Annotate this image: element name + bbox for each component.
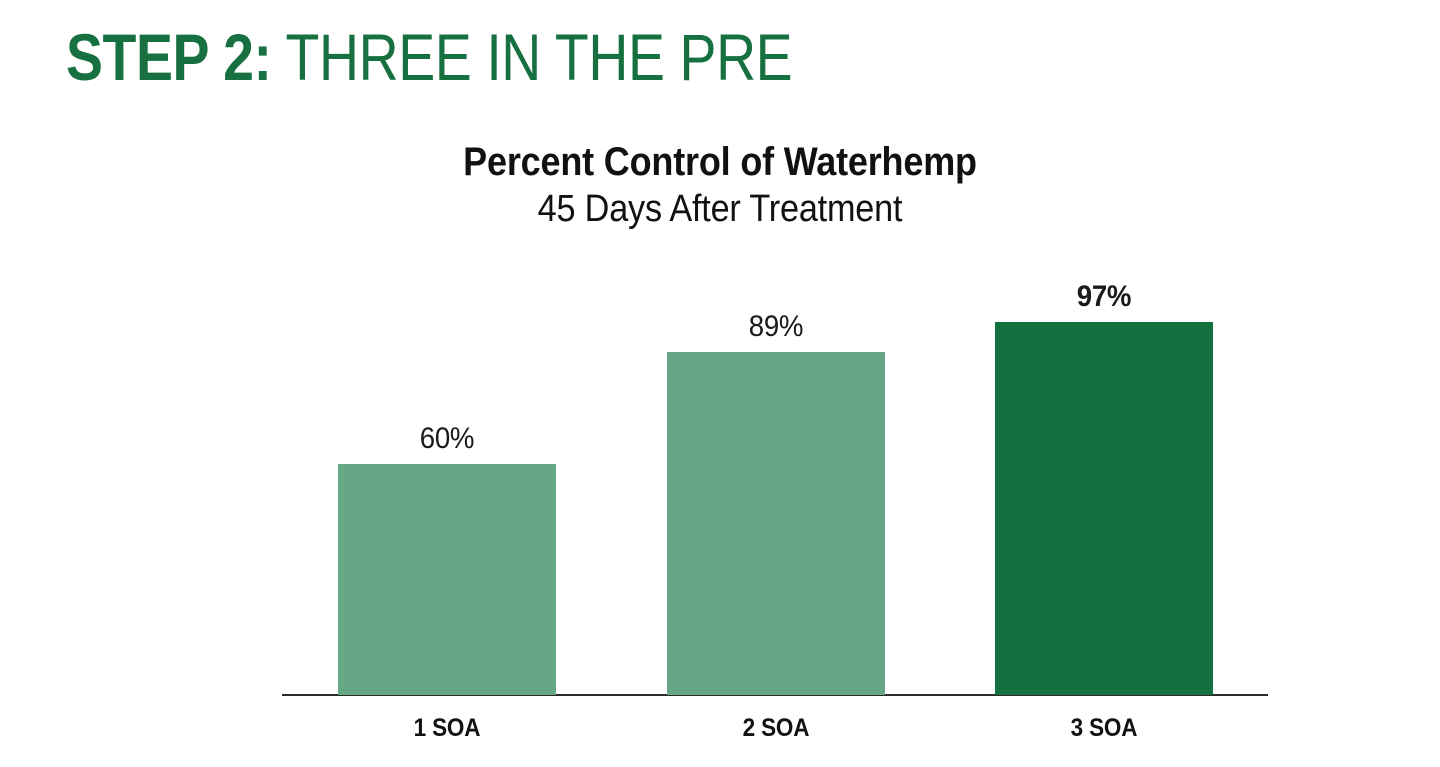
x-axis-category-label: 1 SOA	[349, 714, 545, 743]
bar-value-label: 89%	[676, 310, 877, 344]
bar[interactable]	[667, 352, 885, 695]
bar[interactable]	[338, 464, 556, 695]
plot-area: 60% 89% 97% 1 SOA 2 SOA 3 SOA	[0, 0, 1440, 767]
bar-value-label: 97%	[1004, 280, 1205, 314]
bar-chart: Percent Control of Waterhemp 45 Days Aft…	[0, 0, 1440, 767]
x-axis-category-label: 2 SOA	[678, 714, 874, 743]
x-axis-category-label: 3 SOA	[1006, 714, 1202, 743]
bar[interactable]	[995, 322, 1213, 695]
bar-value-label: 60%	[347, 422, 548, 456]
